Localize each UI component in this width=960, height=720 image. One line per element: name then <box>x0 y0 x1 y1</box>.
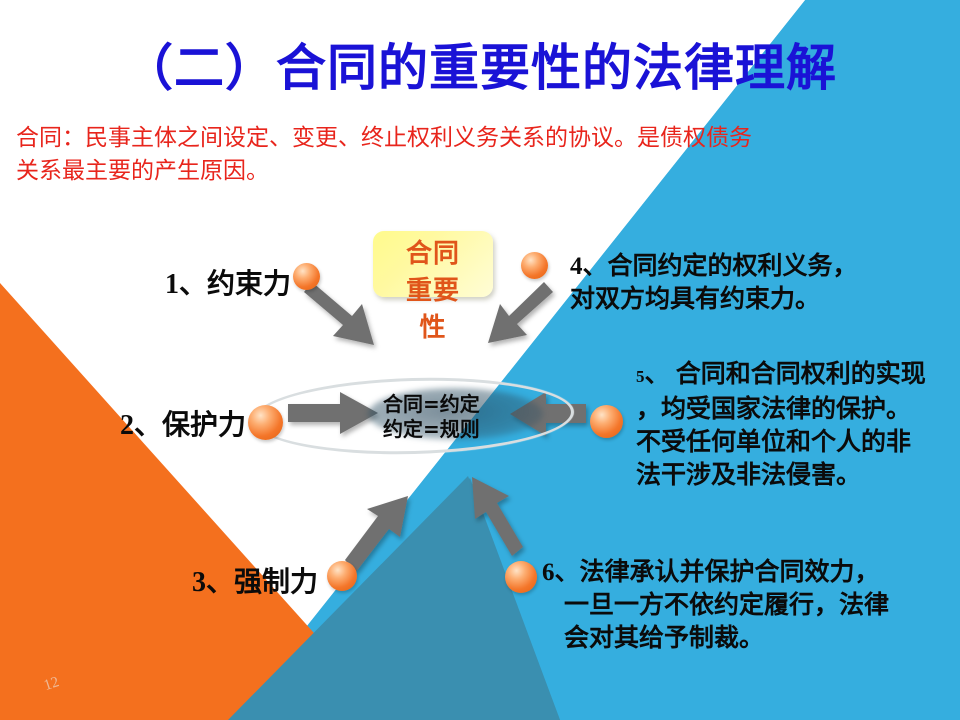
right-item-5-line-1-text: 、 合同和合同权利的实现 <box>645 361 926 388</box>
node-constraint-sphere <box>293 263 320 290</box>
arrow-bottom-right-to-core <box>472 477 523 556</box>
right-item-6-line-3: 会对其给予制裁。 <box>542 622 954 655</box>
right-item-4-line-1: 4、合同约定的权利义务， <box>570 250 950 283</box>
arrow-top-right-to-core <box>488 282 553 343</box>
right-item-5-line-4: 法干涉及非法侵害。 <box>636 459 954 492</box>
right-item-5-line-2: ，均受国家法律的保护。 <box>636 393 954 426</box>
node-force-sphere <box>327 561 357 591</box>
callout-line-3: 性 <box>373 310 493 347</box>
callout-line-2: 重要 <box>373 273 493 310</box>
node-callout-right-sphere <box>521 252 548 279</box>
node-bottom-right-sphere <box>505 561 537 593</box>
right-item-4: 4、合同约定的权利义务， 对双方均具有约束力。 <box>570 250 950 316</box>
arrow-constraint-to-core <box>304 282 374 345</box>
left-item-3-label: 3、强制力 <box>192 560 318 600</box>
node-right-middle-sphere <box>590 405 623 438</box>
right-item-4-line-2: 对双方均具有约束力。 <box>570 283 950 316</box>
callout-text: 合同 重要 性 <box>373 236 493 347</box>
right-item-5-line-3: 不受任何单位和个人的非 <box>636 426 954 459</box>
core-line-2: 约定=规则 <box>383 417 543 442</box>
left-item-1-label: 1、约束力 <box>165 262 291 302</box>
right-item-6: 6、法律承认并保护合同效力， 一旦一方不依约定履行，法律 会对其给予制裁。 <box>542 556 954 655</box>
right-item-5-number: 5 <box>636 367 645 386</box>
right-item-6-line-1: 6、法律承认并保护合同效力， <box>542 556 954 589</box>
core-line-1: 合同=约定 <box>383 392 543 417</box>
node-protect-sphere <box>248 405 283 440</box>
arrow-force-to-core <box>345 496 408 572</box>
core-node-text: 合同=约定 约定=规则 <box>383 392 543 442</box>
left-item-2-label: 2、保护力 <box>120 403 246 443</box>
right-item-5: 5、 合同和合同权利的实现 ，均受国家法律的保护。 不受任何单位和个人的非 法干… <box>636 358 954 492</box>
right-item-6-line-2: 一旦一方不依约定履行，法律 <box>542 589 954 622</box>
slide-canvas: （二）合同的重要性的法律理解 合同：民事主体之间设定、变更、终止权利义务关系的协… <box>0 0 960 720</box>
right-item-5-line-1: 5、 合同和合同权利的实现 <box>636 358 954 393</box>
callout-line-1: 合同 <box>373 236 493 273</box>
